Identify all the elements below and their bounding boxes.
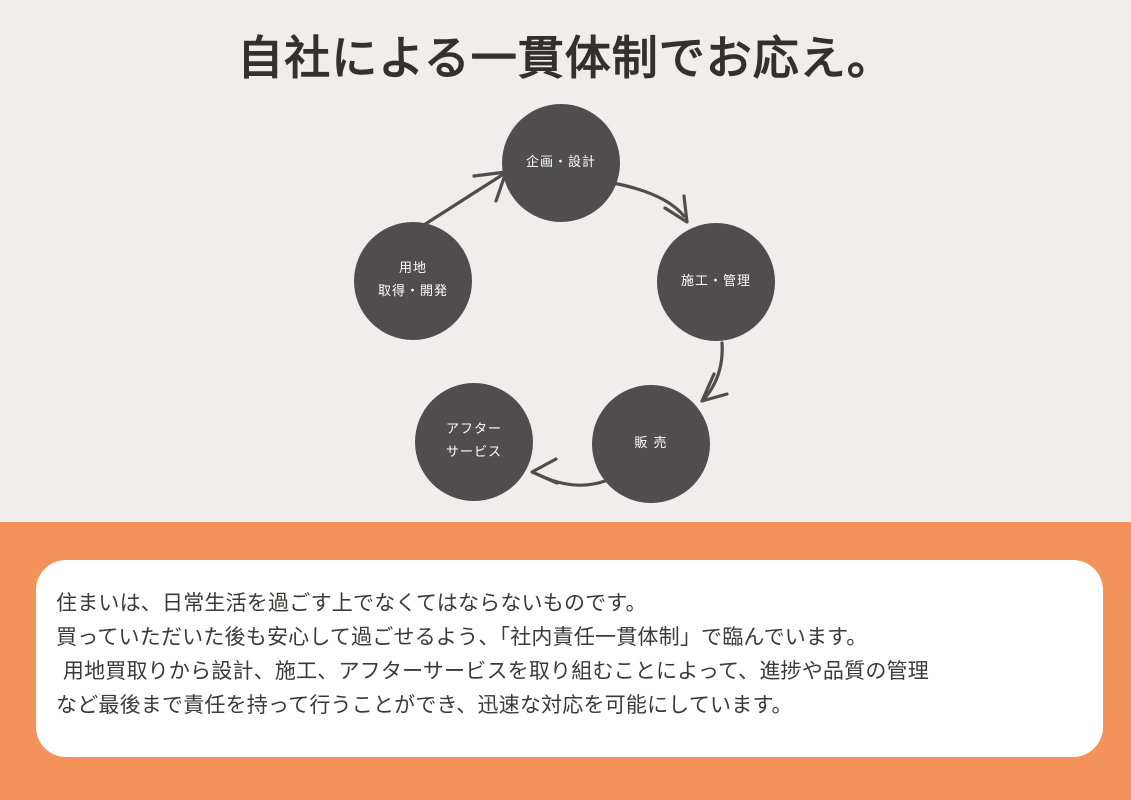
message-body: 住まいは、日常生活を過ごす上でなくてはならないものです。 買っていただいた後も安…: [56, 586, 1103, 722]
cycle-node-construction-label: 施工・管理: [681, 271, 751, 294]
cycle-node-aftercare-label-line1: アフター: [446, 419, 502, 442]
cycle-node-aftercare-label-line2: サービス: [446, 442, 502, 465]
cycle-node-planning: 企画・設計: [502, 104, 620, 222]
cycle-node-construction: 施工・管理: [657, 223, 775, 341]
arrow-construction-to-sales: [702, 343, 727, 401]
message-card: 住まいは、日常生活を過ごす上でなくてはならないものです。 買っていただいた後も安…: [36, 560, 1103, 757]
arrow-sales-to-aftercare: [532, 459, 605, 485]
cycle-node-sales: 販 売: [592, 385, 710, 503]
diagram-section: 自社による一貫体制でお応え。: [0, 0, 1131, 522]
cycle-arrow-layer: [0, 0, 1131, 522]
cycle-node-sales-label: 販 売: [634, 433, 667, 456]
cycle-node-aftercare: アフター サービス: [415, 383, 533, 501]
cycle-node-land-label-line2: 取得・開発: [378, 281, 448, 304]
cycle-diagram: 企画・設計 施工・管理 販 売 アフター サービス 用地 取得・開発: [0, 0, 1131, 522]
cycle-node-land: 用地 取得・開発: [354, 222, 472, 340]
cycle-node-planning-label: 企画・設計: [526, 152, 596, 175]
cycle-node-land-label-line1: 用地: [399, 258, 427, 281]
arrow-land-to-planning: [416, 172, 506, 230]
message-section: 住まいは、日常生活を過ごす上でなくてはならないものです。 買っていただいた後も安…: [0, 522, 1131, 800]
arrow-planning-to-construction: [613, 183, 687, 222]
